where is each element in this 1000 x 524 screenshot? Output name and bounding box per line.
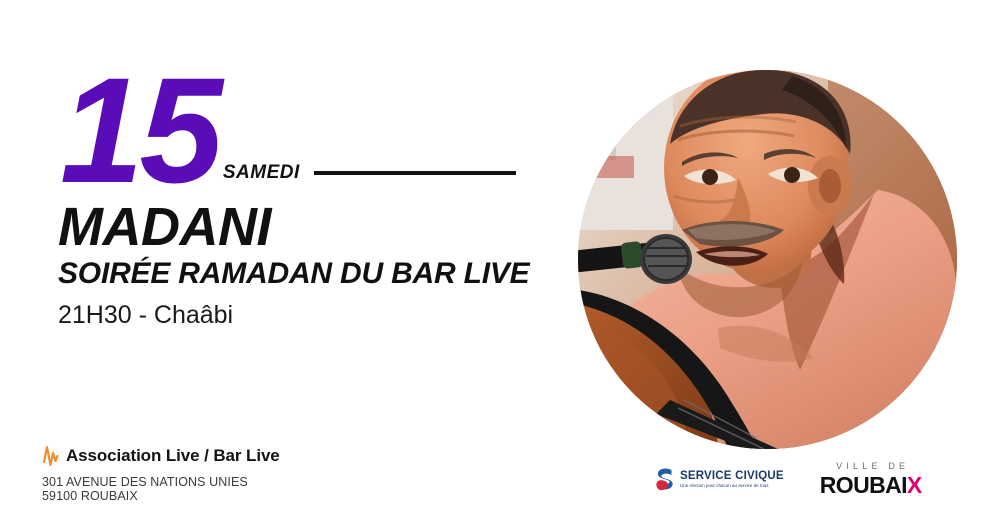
service-civique-text: SERVICE CIVIQUE Une mission pour chacun …	[680, 471, 784, 489]
roubaix-accent-letter: X	[907, 472, 922, 498]
service-civique-tagline: Une mission pour chacun au service de to…	[680, 484, 784, 488]
event-poster: 15 SAMEDI MADANI SOIRÉE RAMADAN DU BAR L…	[0, 0, 1000, 524]
partner-logos: SERVICE CIVIQUE Une mission pour chacun …	[655, 462, 922, 497]
artist-name: MADANI	[58, 200, 271, 254]
sound-wave-icon	[42, 443, 59, 469]
event-subtitle: SOIRÉE RAMADAN DU BAR LIVE	[58, 259, 530, 289]
logo-service-civique: SERVICE CIVIQUE Une mission pour chacun …	[655, 467, 784, 492]
venue-name: Association Live / Bar Live	[66, 446, 280, 466]
weekday-block: SAMEDI	[223, 162, 516, 192]
venue-block: Association Live / Bar Live 301 AVENUE D…	[42, 443, 280, 503]
date-block: 15 SAMEDI	[60, 52, 516, 192]
event-time-genre: 21H30 - Chaâbi	[58, 300, 233, 330]
venue-address-line-2: 59100 ROUBAIX	[42, 489, 280, 503]
venue-address-line-1: 301 AVENUE DES NATIONS UNIES	[42, 475, 280, 489]
artist-photo-illustration	[578, 70, 957, 449]
venue-address: 301 AVENUE DES NATIONS UNIES 59100 ROUBA…	[42, 475, 280, 503]
artist-photo	[578, 70, 957, 449]
roubaix-main-text: ROUBAIX	[820, 474, 922, 497]
venue-title-row: Association Live / Bar Live	[42, 443, 280, 469]
logo-ville-de-roubaix: VILLE DE ROUBAIX	[820, 462, 922, 497]
weekday-label: SAMEDI	[223, 162, 300, 184]
roubaix-top-text: VILLE DE	[824, 462, 922, 471]
roubaix-word: ROUBAI	[820, 472, 907, 498]
service-civique-mark-icon	[655, 467, 675, 492]
day-number: 15	[60, 69, 219, 192]
weekday-rule	[314, 171, 516, 175]
service-civique-title: SERVICE CIVIQUE	[680, 471, 784, 483]
